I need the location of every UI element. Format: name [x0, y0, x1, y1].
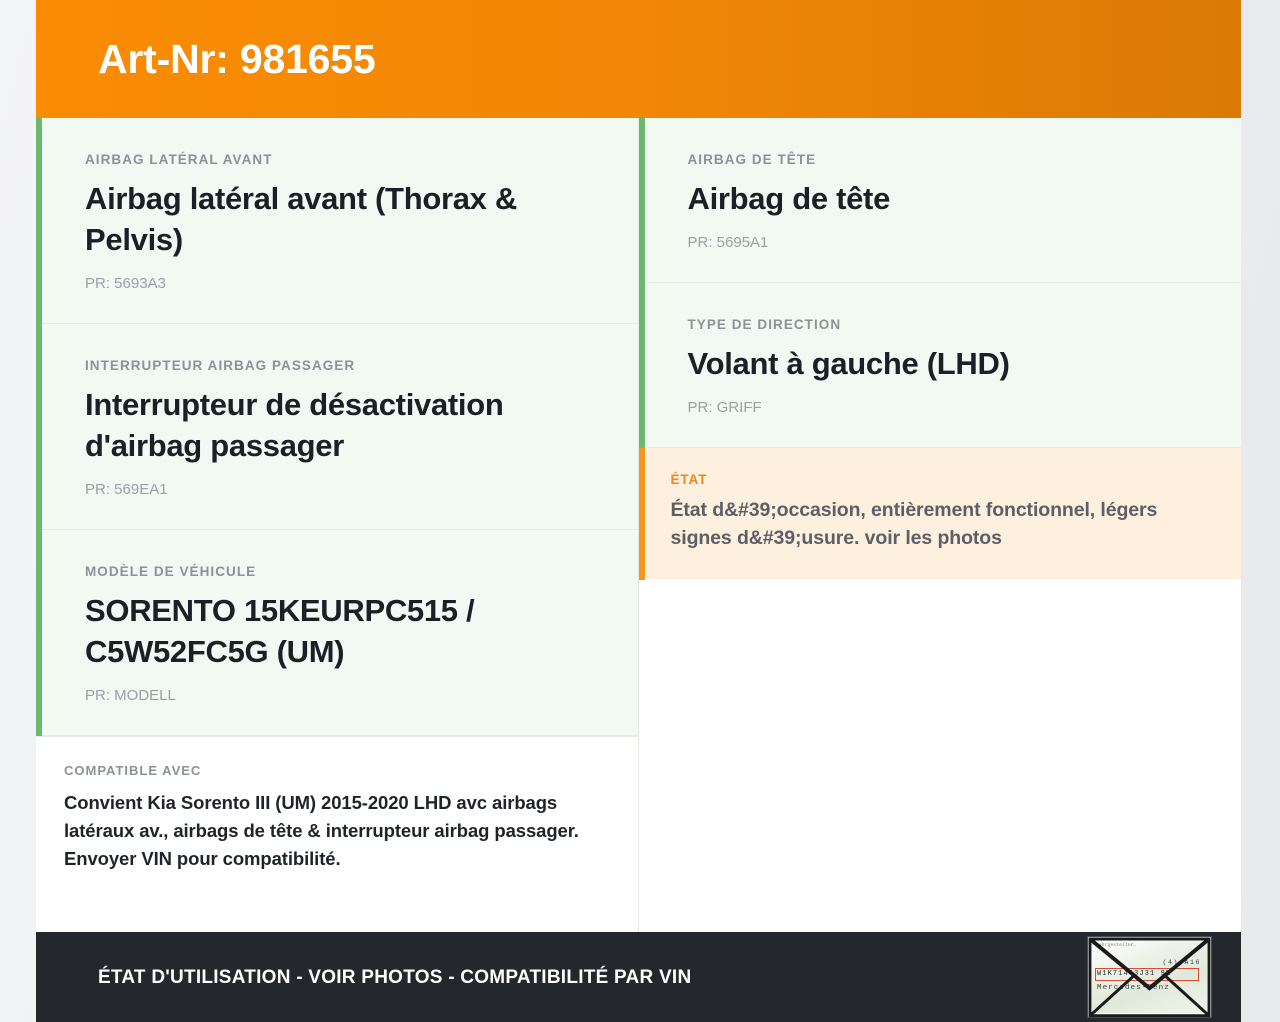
spec-pr-code: PR: MODELL	[85, 687, 608, 705]
spec-pr-code: PR: 5695A1	[688, 234, 1212, 252]
spec-value: Volant à gauche (LHD)	[688, 344, 1212, 385]
spec-label: TYPE DE DIRECTION	[688, 317, 1212, 333]
spec-card-airbag-de-tete: AIRBAG DE TÊTE Airbag de tête PR: 5695A1	[639, 118, 1242, 283]
condition-label: ÉTAT	[671, 472, 1212, 488]
article-number: Art-Nr: 981655	[98, 39, 376, 80]
spec-label: AIRBAG DE TÊTE	[688, 152, 1212, 168]
right-column-spacer	[639, 579, 1242, 932]
condition-text: État d&#39;occasion, entièrement fonctio…	[671, 497, 1212, 552]
compatibility-text: Convient Kia Sorento III (UM) 2015-2020 …	[64, 789, 602, 873]
spec-label: INTERRUPTEUR AIRBAG PASSAGER	[85, 358, 608, 374]
document-code: (4) A16	[1162, 959, 1201, 966]
spec-value: SORENTO 15KEURPC515 / C5W52FC5G (UM)	[85, 591, 608, 673]
condition-card: ÉTAT État d&#39;occasion, entièrement fo…	[639, 448, 1242, 579]
spec-pr-code: PR: 5693A3	[85, 275, 608, 293]
spec-value: Airbag de tête	[688, 179, 1212, 220]
listing-card: Art-Nr: 981655 AIRBAG LATÉRAL AVANT Airb…	[36, 0, 1241, 1022]
spec-card-airbag-lateral-avant: AIRBAG LATÉRAL AVANT Airbag latéral avan…	[36, 118, 638, 324]
listing-body: AIRBAG LATÉRAL AVANT Airbag latéral avan…	[36, 118, 1241, 932]
spec-value: Interrupteur de désactivation d'airbag p…	[85, 385, 608, 467]
spec-label: AIRBAG LATÉRAL AVANT	[85, 152, 608, 168]
spec-label: MODÈLE DE VÉHICULE	[85, 564, 608, 580]
listing-footer: ÉTAT D'UTILISATION - VOIR PHOTOS - COMPA…	[36, 932, 1241, 1022]
left-column-spacer	[36, 901, 638, 932]
footer-banner-text: ÉTAT D'UTILISATION - VOIR PHOTOS - COMPA…	[98, 968, 691, 987]
vin-document-thumbnail[interactable]: Fahrgestellnr. (4) A16 W1K71463J31 9R Me…	[1087, 936, 1212, 1018]
spec-card-interrupteur-airbag-passager: INTERRUPTEUR AIRBAG PASSAGER Interrupteu…	[36, 324, 638, 530]
vehicle-make: Mercedes-Benz	[1097, 984, 1170, 992]
left-column: AIRBAG LATÉRAL AVANT Airbag latéral avan…	[36, 118, 639, 932]
spec-value: Airbag latéral avant (Thorax & Pelvis)	[85, 179, 608, 261]
spec-card-type-de-direction: TYPE DE DIRECTION Volant à gauche (LHD) …	[639, 283, 1242, 448]
compatibility-card: COMPATIBLE AVEC Convient Kia Sorento III…	[36, 736, 638, 901]
listing-header: Art-Nr: 981655	[36, 0, 1241, 118]
spec-pr-code: PR: GRIFF	[688, 399, 1212, 417]
spec-pr-code: PR: 569EA1	[85, 481, 608, 499]
vin-number: W1K71463J31 9R	[1097, 970, 1171, 978]
compatibility-label: COMPATIBLE AVEC	[64, 763, 602, 779]
right-column: AIRBAG DE TÊTE Airbag de tête PR: 5695A1…	[639, 118, 1242, 932]
spec-card-modele-de-vehicule: MODÈLE DE VÉHICULE SORENTO 15KEURPC515 /…	[36, 530, 638, 736]
document-caption: Fahrgestellnr.	[1096, 943, 1137, 948]
